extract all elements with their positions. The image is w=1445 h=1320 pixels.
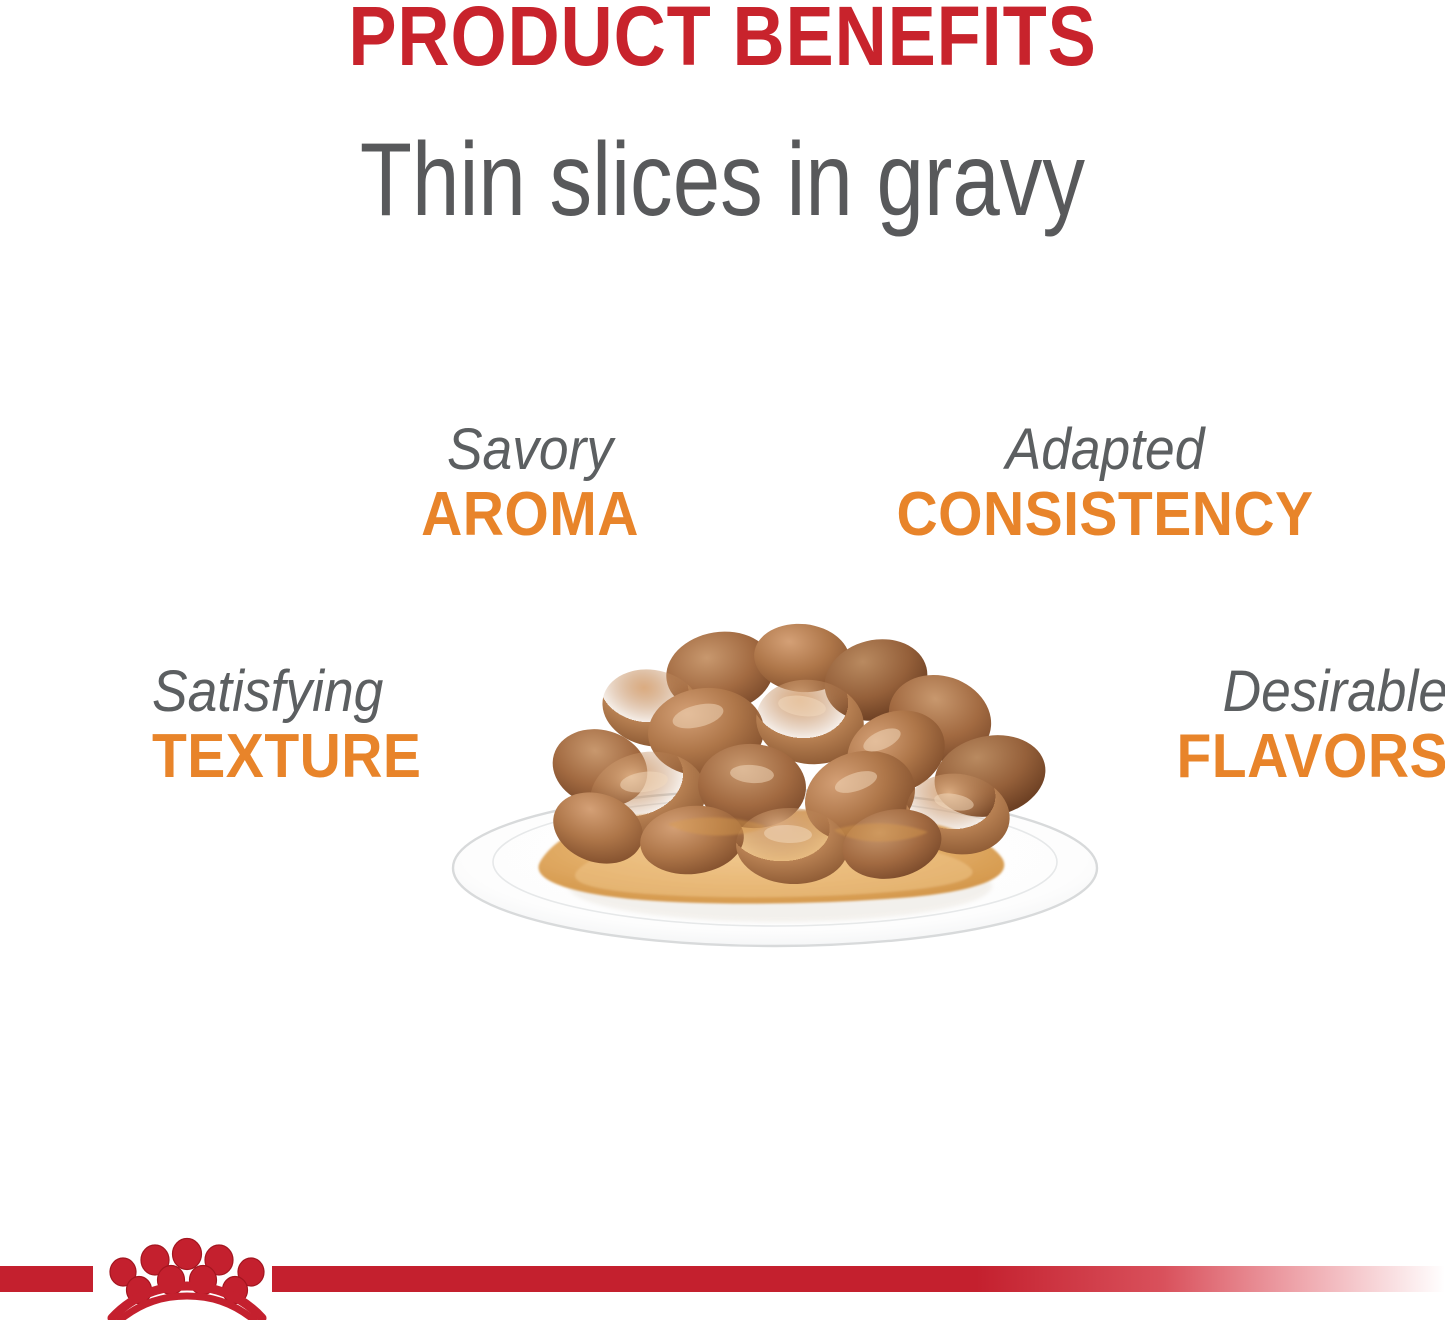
benefit-aroma-noun: AROMA [346,481,714,549]
benefit-aroma-adjective: Savory [346,420,714,481]
benefit-consistency: Adapted CONSISTENCY [865,420,1345,549]
page-subtitle: Thin slices in gravy [130,128,1315,232]
page-title: PRODUCT BENEFITS [101,0,1344,78]
footer-bar-left-segment [0,1266,93,1292]
footer-bar-right-segment [272,1266,1445,1292]
royal-canin-crown-logo [98,1236,276,1320]
benefit-consistency-noun: CONSISTENCY [884,481,1326,549]
product-food-image [430,600,1120,970]
benefit-consistency-adjective: Adapted [884,420,1326,481]
benefit-aroma: Savory AROMA [330,420,730,549]
product-benefits-panel: PRODUCT BENEFITS Thin slices in gravy Sa… [0,0,1445,1320]
